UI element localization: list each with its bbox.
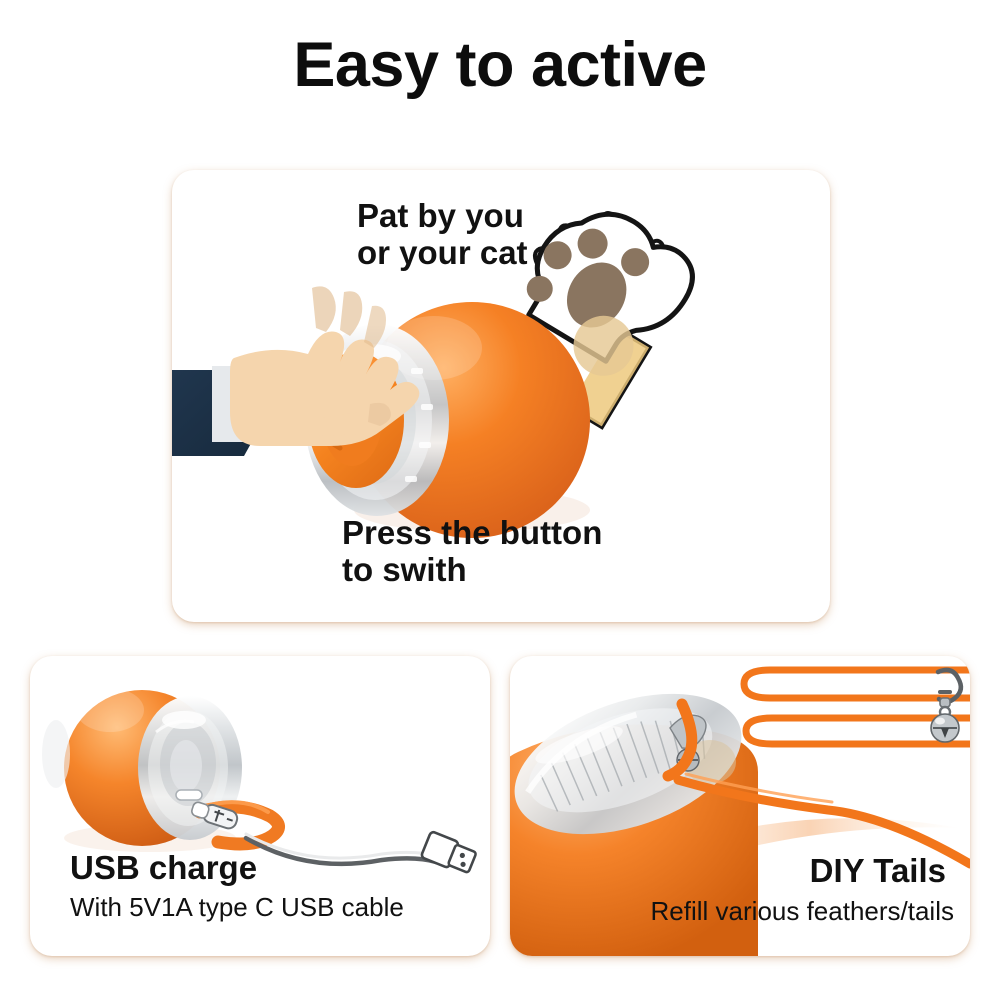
toy-button-cap xyxy=(308,352,404,488)
usb-c-plug xyxy=(190,799,239,830)
infographic-page: Easy to active xyxy=(0,0,1000,1000)
pat-caption: Pat by you or your cat xyxy=(357,198,528,272)
silver-bell-clasp-icon xyxy=(931,670,961,742)
clear-dome xyxy=(510,667,760,861)
orange-ball-toy xyxy=(42,688,242,852)
usb-charge-subtitle: With 5V1A type C USB cable xyxy=(70,893,404,922)
diy-tails-subtitle: Refill various feathers/tails xyxy=(651,897,954,926)
diy-tails-title: DIY Tails xyxy=(810,853,946,890)
page-title: Easy to active xyxy=(0,34,1000,97)
usb-a-connector-icon xyxy=(421,831,478,876)
usb-charge-card: USB charge With 5V1A type C USB cable xyxy=(30,656,490,956)
pressing-hand-icon xyxy=(172,286,419,456)
press-button-card: Pat by you or your cat Press the button … xyxy=(172,170,830,622)
orange-ribbon-tail-icon xyxy=(746,718,970,744)
diy-tails-card: DIY Tails Refill various feathers/tails xyxy=(510,656,970,956)
usb-charge-title: USB charge xyxy=(70,850,257,887)
orange-ribbon-tail-icon xyxy=(744,670,970,698)
orange-ball-toy xyxy=(305,302,590,538)
press-caption: Press the button to swith xyxy=(342,515,602,589)
usb-c-port xyxy=(176,790,202,800)
